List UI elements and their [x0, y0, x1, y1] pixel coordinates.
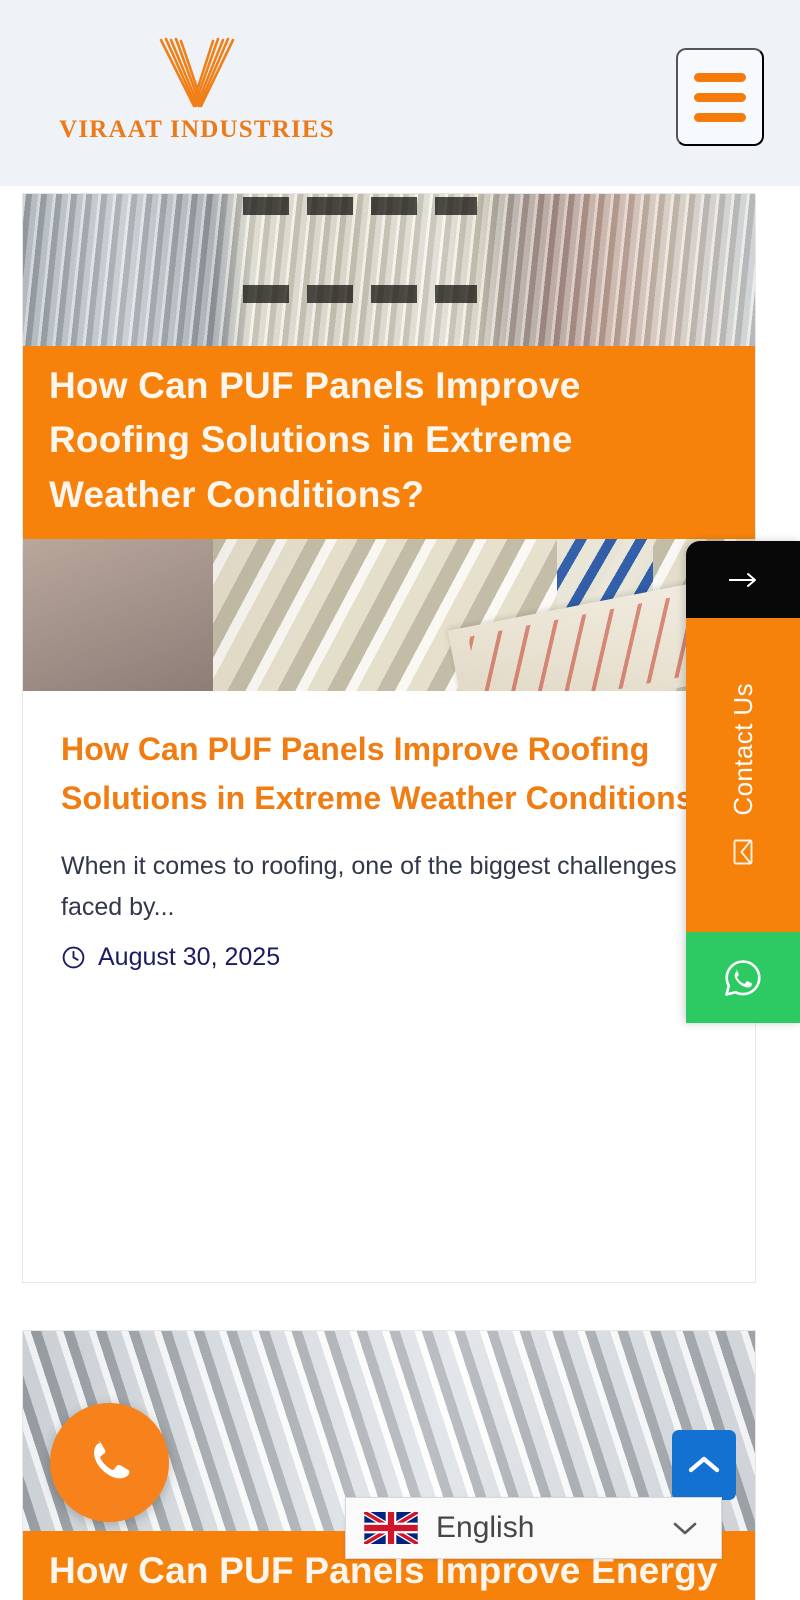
hamburger-menu-icon-bar2	[694, 93, 746, 102]
post-title[interactable]: How Can PUF Panels Improve Roofing Solut…	[61, 725, 717, 822]
chevron-down-icon	[671, 1519, 699, 1537]
blog-post-card[interactable]: How Can PUF Panels Improve Roofing Solut…	[22, 193, 756, 1283]
post-overlay-title: How Can PUF Panels Improve Roofing Solut…	[23, 346, 755, 542]
brand-logo-link[interactable]: VIRAAT INDUSTRIES	[52, 34, 342, 144]
hamburger-menu-icon	[694, 73, 746, 82]
clock-icon	[61, 945, 86, 970]
contact-us-tab[interactable]: Contact Us	[686, 618, 800, 932]
post-body: How Can PUF Panels Improve Roofing Solut…	[23, 691, 755, 972]
contact-us-label: Contact Us	[728, 683, 759, 816]
post-excerpt: When it comes to roofing, one of the big…	[61, 846, 717, 927]
language-name: English	[436, 1511, 653, 1545]
scroll-to-top-button[interactable]	[672, 1430, 736, 1500]
whatsapp-button[interactable]	[686, 932, 800, 1023]
post-date-meta: August 30, 2025	[61, 943, 717, 972]
hamburger-menu-icon-bar3	[694, 113, 746, 122]
hamburger-menu-button[interactable]	[676, 48, 764, 146]
warehouse-floor	[23, 539, 213, 691]
viraat-v-logo-icon	[149, 34, 245, 112]
widget-toggle-button[interactable]	[686, 541, 800, 618]
whatsapp-icon	[719, 954, 767, 1002]
envelope-icon	[728, 837, 758, 867]
uk-flag-icon	[364, 1512, 418, 1544]
chevron-up-icon	[687, 1454, 721, 1476]
page-root: VIRAAT INDUSTRIES How Can PUF Panels Imp…	[0, 0, 800, 1600]
call-now-button[interactable]	[50, 1403, 169, 1522]
phone-icon	[82, 1435, 138, 1491]
brand-name: VIRAAT INDUSTRIES	[59, 116, 335, 144]
post-date: August 30, 2025	[98, 943, 280, 972]
language-switcher[interactable]: English	[345, 1497, 722, 1559]
post-featured-image[interactable]: How Can PUF Panels Improve Roofing Solut…	[23, 194, 755, 691]
arrow-right-icon	[721, 570, 765, 590]
puf-panel-photo-bottom	[23, 539, 755, 691]
site-header: VIRAAT INDUSTRIES	[0, 0, 800, 186]
floating-contact-widget: Contact Us	[686, 541, 800, 1023]
